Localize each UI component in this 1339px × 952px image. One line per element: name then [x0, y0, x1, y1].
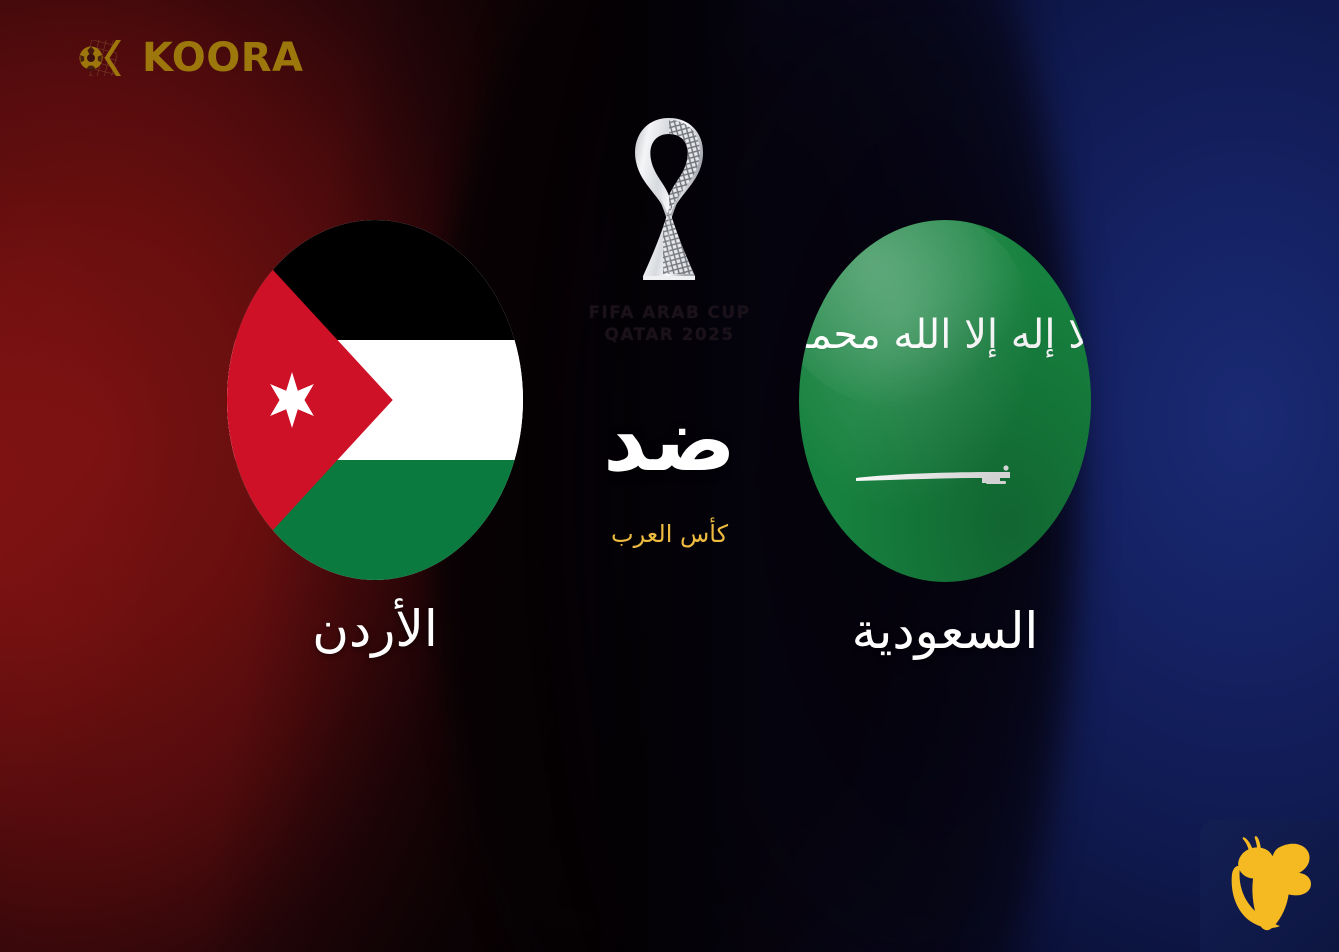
event-emblem: FIFA ARAB CUP QATAR 2025 [589, 112, 751, 347]
event-emblem-line2: QATAR 2025 [589, 325, 751, 347]
saudi-flag-shahada-text: لا إله إلا الله محمد رسول الله [799, 314, 1091, 356]
fifa-arab-cup-trophy-icon [589, 112, 751, 297]
koora-logo[interactable]: KOORA [78, 36, 303, 80]
versus-label: ضد [603, 398, 736, 484]
jordan-flag-icon [227, 220, 523, 580]
event-emblem-line1: FIFA ARAB CUP [589, 303, 751, 325]
team-away: لا إله إلا الله محمد رسول الله السعودية [745, 220, 1145, 659]
team-away-name: السعودية [745, 604, 1145, 659]
bee-icon [1216, 834, 1324, 938]
team-home-name: الأردن [175, 602, 575, 657]
team-home: الأردن [175, 220, 575, 657]
saudi-flag-shading [799, 220, 1091, 582]
competition-label: كأس العرب [611, 522, 728, 546]
football-net-icon [78, 36, 140, 80]
koora-wordmark: KOORA [142, 38, 303, 78]
bee-logo-badge[interactable] [1200, 820, 1339, 952]
event-emblem-text: FIFA ARAB CUP QATAR 2025 [589, 303, 751, 347]
saudi-arabia-flag-icon: لا إله إلا الله محمد رسول الله [799, 220, 1091, 582]
match-preview-graphic: KOORA [0, 0, 1339, 952]
